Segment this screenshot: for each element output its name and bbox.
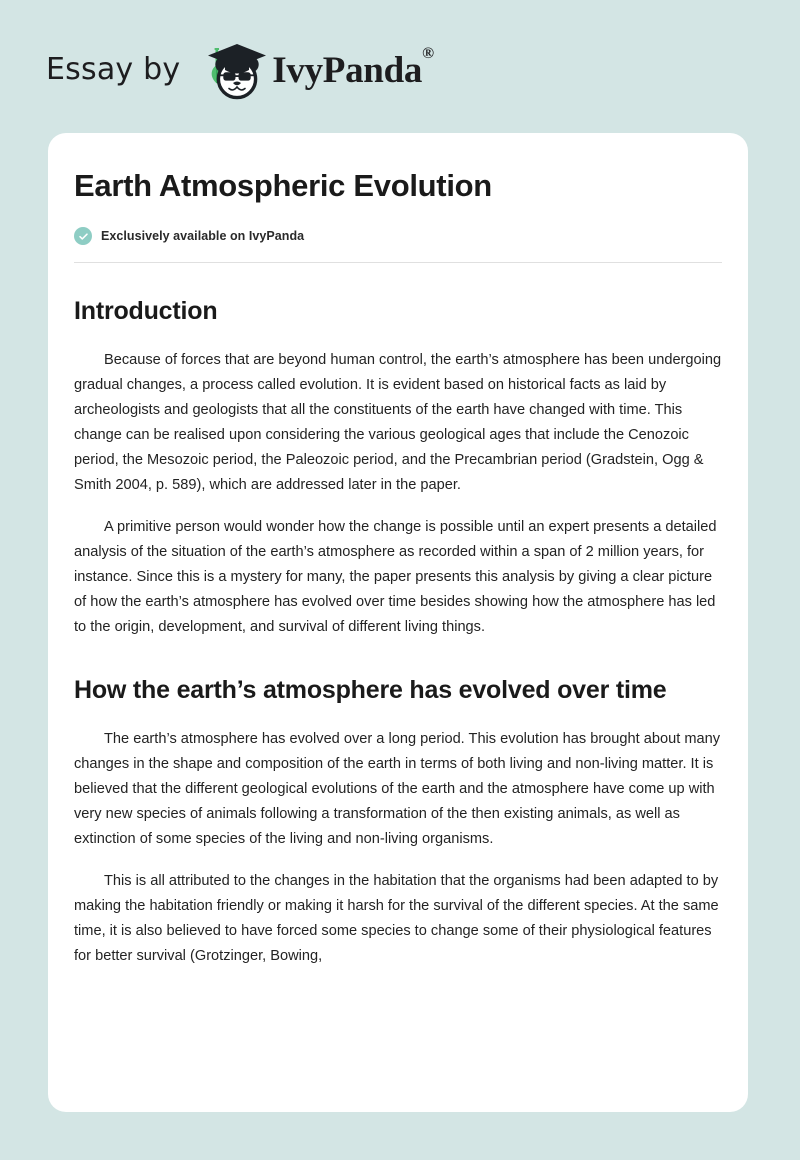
exclusive-availability-label: Exclusively available on IvyPanda bbox=[101, 229, 304, 243]
site-header: Essay by bbox=[46, 38, 434, 102]
brand-name: IvyPanda® bbox=[272, 52, 433, 89]
document-card: Earth Atmospheric Evolution Exclusively … bbox=[48, 133, 748, 1112]
paragraph: Because of forces that are beyond human … bbox=[74, 348, 722, 498]
page-root: Essay by bbox=[0, 0, 800, 1160]
panda-graduation-cap-icon bbox=[198, 38, 270, 102]
check-circle-icon bbox=[74, 227, 92, 245]
paragraph: The earth’s atmosphere has evolved over … bbox=[74, 727, 722, 852]
paragraph: A primitive person would wonder how the … bbox=[74, 515, 722, 640]
exclusive-availability-badge: Exclusively available on IvyPanda bbox=[74, 227, 722, 245]
document-content: Earth Atmospheric Evolution Exclusively … bbox=[48, 133, 748, 969]
essay-by-label: Essay by bbox=[46, 55, 180, 85]
page-title: Earth Atmospheric Evolution bbox=[74, 167, 722, 204]
ivypanda-logo[interactable]: IvyPanda® bbox=[198, 38, 433, 102]
paragraph: This is all attributed to the changes in… bbox=[74, 869, 722, 969]
brand-name-text: IvyPanda bbox=[272, 50, 422, 91]
header-divider bbox=[74, 262, 722, 263]
section-heading-introduction: Introduction bbox=[74, 295, 722, 328]
registered-trademark-icon: ® bbox=[422, 45, 434, 62]
section-heading-atmosphere-evolution: How the earth’s atmosphere has evolved o… bbox=[74, 674, 722, 707]
